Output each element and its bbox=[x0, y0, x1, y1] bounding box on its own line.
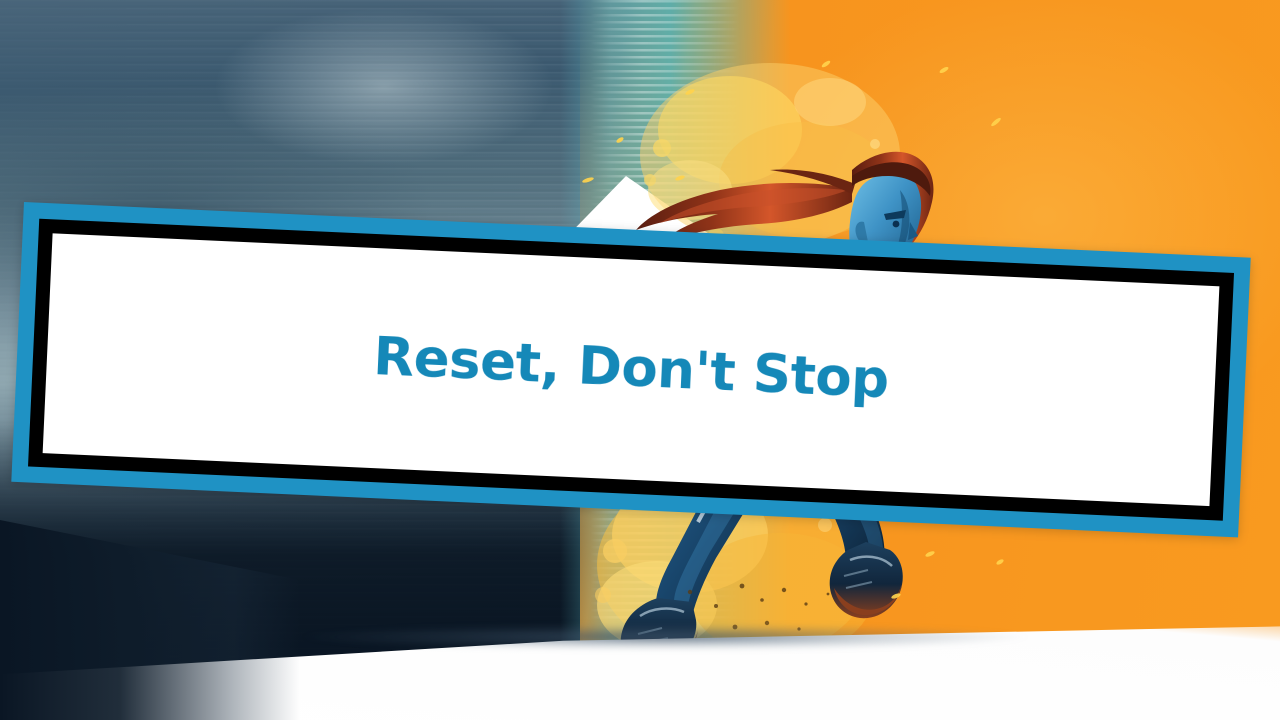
banner-outer-border: Reset, Don't Stop bbox=[11, 202, 1250, 537]
title-banner: Reset, Don't Stop bbox=[11, 202, 1250, 537]
slide-canvas: Reset, Don't Stop bbox=[0, 0, 1280, 720]
banner-inner-border: Reset, Don't Stop bbox=[28, 219, 1234, 521]
banner-content-area: Reset, Don't Stop bbox=[43, 233, 1220, 506]
page-title: Reset, Don't Stop bbox=[372, 326, 890, 410]
runner-ground-shadow bbox=[270, 620, 1210, 654]
